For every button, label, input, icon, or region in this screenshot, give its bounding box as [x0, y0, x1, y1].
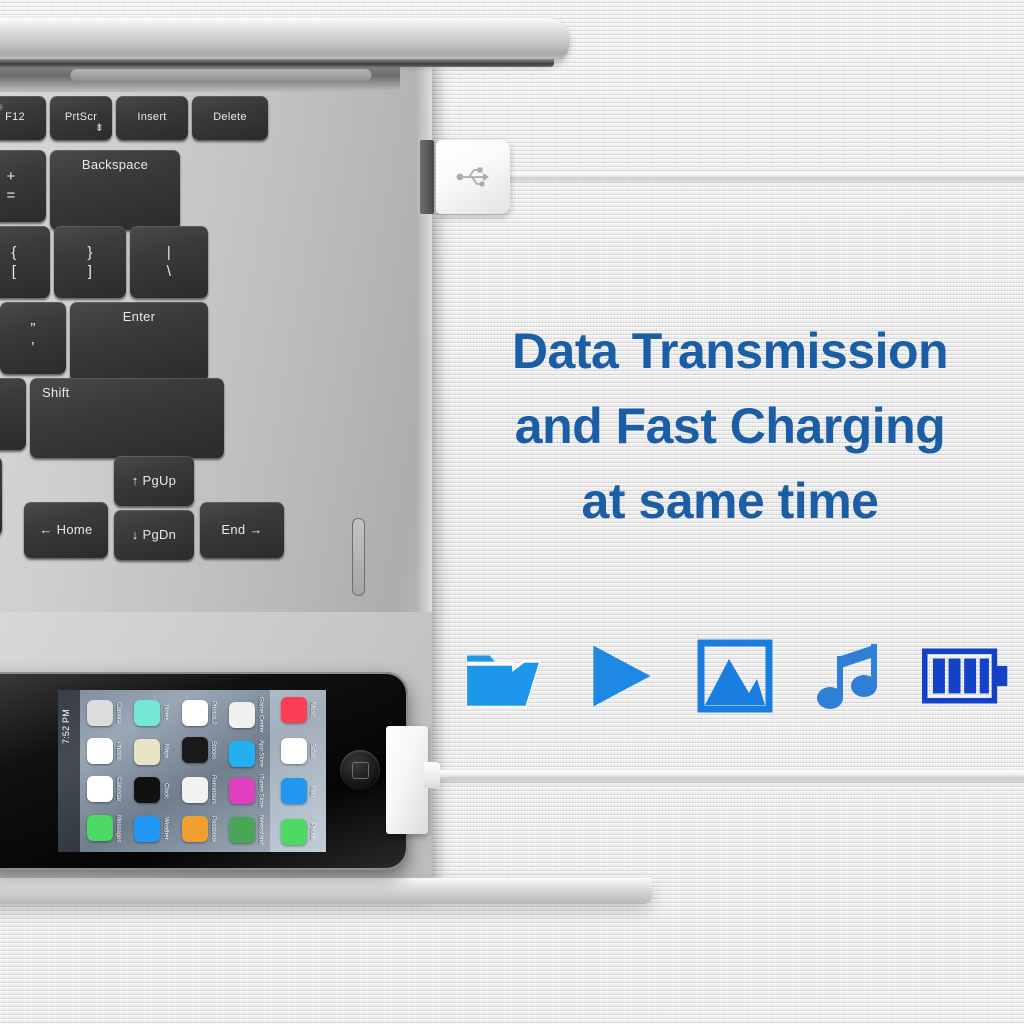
phone-app-camera[interactable]: Camera [87, 700, 121, 726]
app-label: Stocks [210, 741, 216, 759]
lightning-connector-neck [424, 762, 440, 788]
phone-app-weather[interactable]: Weather [134, 816, 168, 842]
app-icon [134, 739, 160, 765]
usb-port-slot [420, 140, 434, 214]
wireless-icon: ⇟ [95, 121, 104, 134]
app-label: iTunes Store [257, 774, 263, 808]
key-label-lower: ] [88, 264, 92, 280]
app-label: Reminders [210, 775, 216, 804]
lightning-connector [386, 726, 428, 834]
phone-app-photos[interactable]: Photos [87, 738, 121, 764]
phone-app-photos-2[interactable]: Photos 2 [182, 700, 216, 726]
key-[interactable]: += [0, 150, 46, 222]
app-icon [87, 776, 113, 802]
phone-home-button[interactable] [340, 750, 380, 790]
app-label: Photos [115, 742, 121, 761]
app-icon [182, 737, 208, 763]
app-label: App Store [257, 740, 263, 767]
key-insert[interactable]: Insert [116, 96, 188, 140]
app-icon [281, 819, 307, 845]
usb-a-connector [436, 140, 510, 214]
key-label: F12 [5, 112, 25, 124]
key-pgdn[interactable]: ↓ PgDn [114, 510, 194, 560]
app-label: Clock [162, 783, 168, 798]
key-[interactable]: ?/ [0, 378, 26, 450]
key-backspace[interactable]: Backspace [50, 150, 180, 230]
music-icon [807, 632, 895, 720]
phone-app-notes[interactable]: Notes [134, 700, 168, 726]
phone-dock-safari[interactable]: Safari [281, 738, 315, 764]
app-label: Music [309, 702, 315, 718]
key-[interactable]: |\ [130, 226, 208, 298]
phone-status-bar: 7:52 PM [58, 690, 80, 852]
key-label: PrtScr [65, 112, 97, 124]
key-f12[interactable]: F12☀ [0, 96, 46, 140]
app-icon [87, 738, 113, 764]
app-label: Mail [309, 786, 315, 797]
app-label: Safari [309, 743, 315, 759]
key-label-upper: ” [30, 321, 35, 337]
key-label-lower: = [6, 188, 15, 204]
hinge-notch [70, 68, 372, 82]
key-label-lower: ’ [31, 340, 35, 356]
key-label: ↓ PgDn [132, 528, 176, 542]
brightness-icon: ☀ [0, 101, 4, 114]
app-label: Passbook [210, 816, 216, 842]
app-icon [182, 816, 208, 842]
app-label: Camera [115, 702, 121, 723]
play-icon [576, 632, 664, 720]
app-icon [87, 815, 113, 841]
app-label: Game Center [257, 697, 263, 733]
key-ctrl[interactable]: Ctrl☰ [0, 456, 2, 536]
phone-app-clock[interactable]: Clock [134, 777, 168, 803]
key-pgup[interactable]: ↑ PgUp [114, 456, 194, 506]
phone-app-messages[interactable]: Messages [87, 815, 121, 842]
headline-line-1: Data Transmission [452, 314, 1008, 389]
usb-cable-top [500, 172, 1024, 179]
phone-app-maps[interactable]: Maps [134, 739, 168, 765]
key-[interactable]: }] [54, 226, 126, 298]
phone-app-column: CameraPhotosCalendarMessages [80, 690, 128, 852]
phone-dock[interactable]: MusicSafariMailPhone [270, 690, 326, 852]
key-label-upper: + [6, 169, 15, 185]
phone-app-reminders[interactable]: Reminders [182, 775, 216, 804]
feature-icon-row [460, 628, 1010, 723]
key-label: Enter [123, 310, 156, 324]
app-icon [134, 777, 160, 803]
key-[interactable]: {[ [0, 226, 50, 298]
key-end[interactable]: End → [200, 502, 284, 558]
key-label-upper: } [87, 245, 92, 261]
laptop-bottom-edge [0, 878, 652, 904]
folder-icon [460, 632, 548, 720]
headline: Data Transmission and Fast Charging at s… [452, 314, 1008, 539]
app-label: Phone [309, 823, 315, 840]
phone-app-itunes-store[interactable]: iTunes Store [229, 774, 263, 808]
headline-line-2: and Fast Charging [452, 389, 1008, 464]
key-delete[interactable]: Delete [192, 96, 268, 140]
app-icon [229, 741, 255, 767]
app-icon [87, 700, 113, 726]
key-label-lower: [ [12, 264, 16, 280]
app-icon [182, 777, 208, 803]
status-time: 7:52 PM [61, 690, 71, 744]
key-label: Backspace [82, 158, 148, 172]
key-label: ↑ PgUp [132, 474, 176, 488]
phone-app-calendar[interactable]: Calendar [87, 776, 121, 802]
phone-dock-phone[interactable]: Phone [281, 819, 315, 845]
key-[interactable]: ”’ [0, 302, 66, 374]
app-label: Maps [162, 744, 168, 759]
phone-app-column: NotesMapsClockWeather [128, 690, 176, 852]
app-label: Weather [162, 817, 168, 840]
key-label: End → [221, 523, 262, 537]
phone-app-game-center[interactable]: Game Center [229, 697, 263, 733]
phone-app-column: Photos 2StocksRemindersPassbook [175, 690, 223, 852]
key-shift[interactable]: Shift [30, 378, 224, 458]
key-enter[interactable]: Enter [70, 302, 208, 382]
app-icon [229, 702, 255, 728]
phone-app-grid[interactable]: CameraPhotosCalendarMessagesNotesMapsClo… [80, 690, 270, 852]
app-label: Calendar [115, 777, 121, 801]
key-label-lower: \ [167, 264, 171, 280]
laptop-side-vent [352, 518, 365, 596]
laptop-lid [0, 18, 570, 64]
usb-trident-icon [456, 166, 490, 188]
app-icon [281, 697, 307, 723]
headline-line-3: at same time [452, 464, 1008, 539]
phone-app-newsstand[interactable]: Newsstand [229, 815, 263, 845]
app-label: Newsstand [257, 815, 263, 845]
app-icon [229, 778, 255, 804]
app-label: Photos 2 [210, 701, 216, 725]
lightning-cable-bottom [424, 770, 1024, 779]
app-icon [134, 816, 160, 842]
laptop-keyboard[interactable]: F11F12☀PrtScr⇟InsertDelete—_+=BackspaceP… [0, 96, 338, 616]
key-label-upper: { [11, 245, 16, 261]
battery-icon [922, 632, 1010, 720]
key-label: Insert [137, 112, 166, 124]
key-label: Shift [42, 386, 70, 400]
key-prtscr[interactable]: PrtScr⇟ [50, 96, 112, 140]
smartphone: 7:52 PM CameraPhotosCalendarMessagesNote… [0, 672, 408, 870]
app-icon [182, 700, 208, 726]
phone-app-stocks[interactable]: Stocks [182, 737, 216, 763]
app-icon [281, 778, 307, 804]
phone-screen[interactable]: 7:52 PM CameraPhotosCalendarMessagesNote… [58, 690, 326, 852]
image-icon [691, 632, 779, 720]
app-label: Messages [115, 815, 121, 842]
key-home[interactable]: ← Home [24, 502, 108, 558]
phone-dock-mail[interactable]: Mail [281, 778, 315, 804]
app-icon [229, 817, 255, 843]
app-label: Notes [162, 705, 168, 721]
phone-dock-music[interactable]: Music [281, 697, 315, 723]
key-label: ← Home [39, 523, 92, 537]
phone-app-passbook[interactable]: Passbook [182, 816, 216, 842]
product-marketing-image: F11F12☀PrtScr⇟InsertDelete—_+=BackspaceP… [0, 0, 1024, 1024]
app-icon [281, 738, 307, 764]
key-label-upper: | [167, 245, 171, 261]
phone-app-column: Game CenterApp StoreiTunes StoreNewsstan… [223, 690, 271, 852]
app-icon [134, 700, 160, 726]
phone-app-app-store[interactable]: App Store [229, 740, 263, 767]
key-label: Delete [213, 112, 247, 124]
